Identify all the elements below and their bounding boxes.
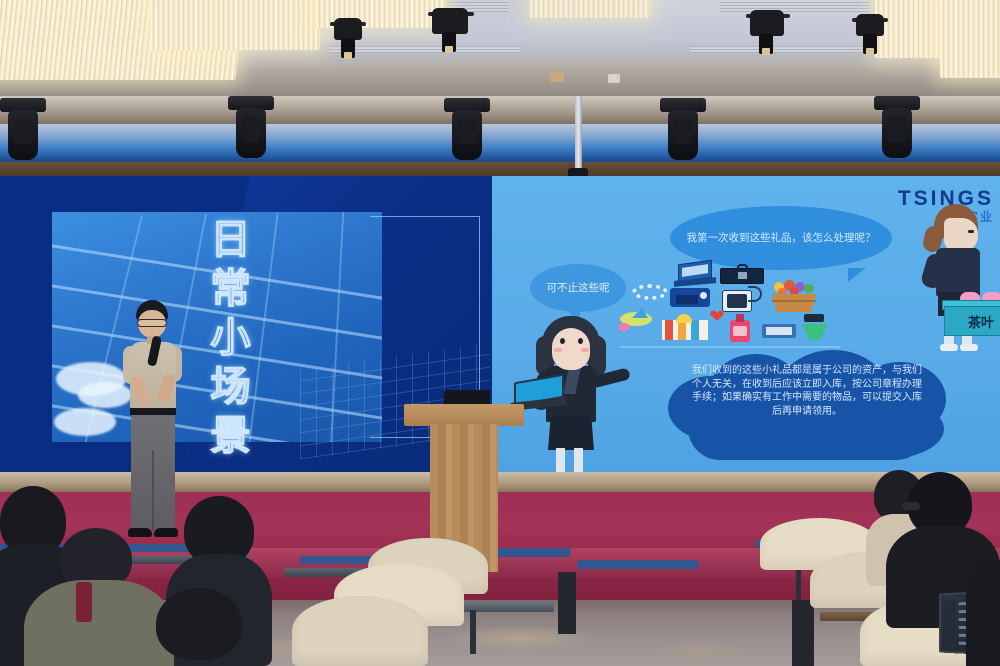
lectern-top <box>404 404 524 426</box>
tea-gift-box: 茶叶 <box>944 296 1000 336</box>
necklace-gift-icon <box>632 282 668 302</box>
device-gift-icon <box>802 314 828 340</box>
ceiling-speaker <box>550 72 564 82</box>
eyeglasses-icon <box>902 502 920 510</box>
aside-bubble: 可不止这些呢 <box>530 264 626 312</box>
answer-cloud-bubble: 我们收到的这些小礼品都是属于公司的资产，与我们个人无关，在收到后应该立即入库，按… <box>668 350 944 466</box>
answer-cloud-text: 我们收到的这些小礼品都是属于公司的资产，与我们个人无关，在收到后应该立即入库，按… <box>692 364 922 418</box>
moving-head-light <box>874 96 920 162</box>
chandelier <box>940 0 1000 78</box>
moving-head-light <box>444 98 490 164</box>
gift-items-group <box>620 262 840 354</box>
slide-right-panel: TSINGS 青山实业 我第一次收到这些礼品，该怎么处理呢？ 可不止这些呢 <box>492 176 1000 476</box>
character-woman-with-laptop <box>536 316 632 476</box>
teapot-gift-icon <box>718 284 762 314</box>
camera-gift-icon <box>670 288 710 308</box>
moving-head-light <box>660 98 706 164</box>
aside-bubble-text: 可不止这些呢 <box>547 281 610 296</box>
stage-light-fixture <box>852 14 888 62</box>
items-shelf <box>620 346 840 348</box>
perfume-gift-icon <box>728 312 752 342</box>
ceiling-sensor <box>608 74 620 83</box>
ceiling-truss <box>0 96 1000 124</box>
giftbox-gift-icon <box>662 314 708 340</box>
stage-step-edge <box>578 560 698 569</box>
moving-head-light <box>228 96 274 162</box>
laptop-gift-icon <box>674 262 714 288</box>
tea-gift-box-label: 茶叶 <box>944 312 1000 331</box>
audience-person <box>966 560 1000 666</box>
heart-icon <box>710 310 724 322</box>
audience-chair <box>292 596 428 666</box>
chandelier <box>530 0 650 18</box>
desk-leg <box>470 610 476 654</box>
stage-light-fixture <box>330 18 366 66</box>
character-woman-with-gift: 茶叶 <box>930 204 1000 354</box>
desk-frame <box>792 600 814 666</box>
ceiling <box>0 0 1000 100</box>
wallet-gift-icon <box>762 322 796 340</box>
desk-frame <box>558 572 576 634</box>
ceiling-vent <box>720 2 870 12</box>
stage-light-fixture <box>746 10 790 58</box>
stage-light-fixture <box>428 8 474 56</box>
briefcase-gift-icon <box>720 264 764 284</box>
slide-vertical-title: 日常小场景 <box>196 216 266 461</box>
fruit-basket-gift-icon <box>770 282 818 316</box>
moving-head-light <box>0 98 46 164</box>
presentation-photo: 日常小场景 TSINGS 青山实业 我第一次收到这些礼品，该怎么处理呢？ 可不止… <box>0 0 1000 666</box>
audience-person <box>130 588 270 666</box>
chandelier <box>150 0 320 50</box>
question-bubble-text: 我第一次收到这些礼品，该怎么处理呢？ <box>687 231 876 246</box>
